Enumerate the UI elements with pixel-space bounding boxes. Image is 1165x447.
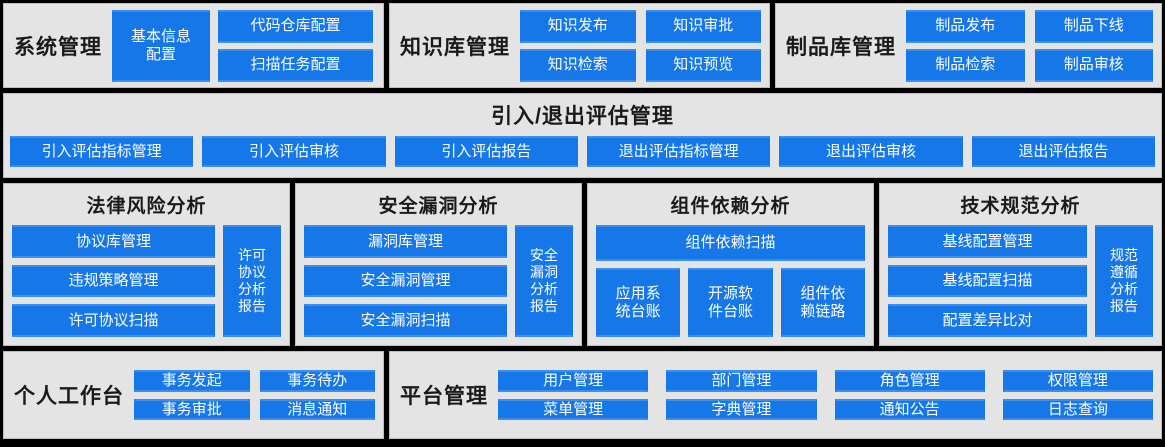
button-group-technical-specification-analysis: 基线配置管理 基线配置扫描 配置差异比对 xyxy=(888,225,1087,337)
button-product-audit[interactable]: 制品审核 xyxy=(1035,49,1154,82)
button-license-agreement-scan[interactable]: 许可协议扫描 xyxy=(12,304,215,337)
button-security-vulnerability-management[interactable]: 安全漏洞管理 xyxy=(304,265,507,298)
module-row-3: 法律风险分析 协议库管理 违规策略管理 许可协议扫描 许可协议分析报告 安全漏洞… xyxy=(3,183,1162,346)
panel-intro-exit-evaluation-management: 引入/退出评估管理 引入评估指标管理 引入评估审核 引入评估报告 退出评估指标管… xyxy=(3,93,1162,178)
report-label-line: 分析 xyxy=(530,281,558,298)
panel-security-vulnerability-analysis: 安全漏洞分析 漏洞库管理 安全漏洞管理 安全漏洞扫描 安全漏洞分析报告 xyxy=(295,183,582,346)
button-security-vulnerability-scan[interactable]: 安全漏洞扫描 xyxy=(304,304,507,337)
button-vulnerability-repo-management[interactable]: 漏洞库管理 xyxy=(304,225,507,258)
panel-platform-management: 平台管理 用户管理 部门管理 角色管理 权限管理 菜单管理 字典管理 通知公告 … xyxy=(389,351,1162,439)
button-product-publish[interactable]: 制品发布 xyxy=(906,10,1025,43)
report-label-line: 分析 xyxy=(238,281,266,298)
report-label-line: 分析 xyxy=(1110,281,1138,298)
button-notice-announcement[interactable]: 通知公告 xyxy=(835,399,985,420)
panel-title-component-dependency-analysis: 组件依赖分析 xyxy=(596,191,865,218)
button-menu-management[interactable]: 菜单管理 xyxy=(498,399,648,420)
button-intro-eval-review[interactable]: 引入评估审核 xyxy=(202,136,385,167)
panel-personal-workbench: 个人工作台 事务发起 事务待办 事务审批 消息通知 xyxy=(3,351,384,439)
button-product-search[interactable]: 制品检索 xyxy=(906,49,1025,82)
panel-title-knowledge-base-management: 知识库管理 xyxy=(390,31,520,61)
button-open-source-software-ledger[interactable]: 开源软 件台账 xyxy=(688,268,772,337)
button-knowledge-approval[interactable]: 知识审批 xyxy=(646,10,762,43)
panel-legal-risk-analysis: 法律风险分析 协议库管理 违规策略管理 许可协议扫描 许可协议分析报告 xyxy=(3,183,290,346)
button-message-notification[interactable]: 消息通知 xyxy=(260,399,376,420)
panel-system-management: 系统管理 基本信息 配置 代码仓库配置 扫描任务配置 xyxy=(3,3,384,88)
panel-title-legal-risk-analysis: 法律风险分析 xyxy=(12,191,281,218)
panel-title-security-vulnerability-analysis: 安全漏洞分析 xyxy=(304,191,573,218)
report-label-line: 报告 xyxy=(530,298,558,315)
button-group-intro-exit-evaluation: 引入评估指标管理 引入评估审核 引入评估报告 退出评估指标管理 退出评估审核 退… xyxy=(10,136,1155,167)
button-group-product-repository: 制品发布 制品下线 制品检索 制品审核 xyxy=(906,4,1161,88)
button-license-repo-management[interactable]: 协议库管理 xyxy=(12,225,215,258)
button-scan-task-config[interactable]: 扫描任务配置 xyxy=(218,49,373,82)
button-task-todo[interactable]: 事务待办 xyxy=(260,370,376,391)
button-group-platform-management: 用户管理 部门管理 角色管理 权限管理 菜单管理 字典管理 通知公告 日志查询 xyxy=(498,363,1161,427)
report-label-line: 许可 xyxy=(238,247,266,264)
button-baseline-config-scan[interactable]: 基线配置扫描 xyxy=(888,265,1087,298)
panel-component-dependency-analysis: 组件依赖分析 组件依赖扫描 应用系 统台账 开源软 件台账 组件依 赖链路 xyxy=(587,183,874,346)
button-task-approval[interactable]: 事务审批 xyxy=(134,399,250,420)
panel-title-personal-workbench: 个人工作台 xyxy=(4,380,134,410)
body-legal-risk-analysis: 协议库管理 违规策略管理 许可协议扫描 许可协议分析报告 xyxy=(12,225,281,337)
report-label-line: 协议 xyxy=(238,264,266,281)
button-log-query[interactable]: 日志查询 xyxy=(1003,399,1153,420)
button-knowledge-publish[interactable]: 知识发布 xyxy=(520,10,636,43)
button-config-difference-comparison[interactable]: 配置差异比对 xyxy=(888,304,1087,337)
report-label-line: 遵循 xyxy=(1110,264,1138,281)
button-group-dependency-ledgers: 应用系 统台账 开源软 件台账 组件依 赖链路 xyxy=(596,268,865,337)
panel-title-product-repository-management: 制品库管理 xyxy=(776,31,906,61)
button-user-management[interactable]: 用户管理 xyxy=(498,370,648,391)
module-row-4: 个人工作台 事务发起 事务待办 事务审批 消息通知 平台管理 用户管理 部门管理… xyxy=(3,351,1162,439)
module-row-1: 系统管理 基本信息 配置 代码仓库配置 扫描任务配置 知识库管理 知识发布 知识… xyxy=(3,3,1162,88)
button-knowledge-search[interactable]: 知识检索 xyxy=(520,49,636,82)
button-knowledge-preview[interactable]: 知识预览 xyxy=(646,49,762,82)
button-component-dependency-chain[interactable]: 组件依 赖链路 xyxy=(781,268,865,337)
panel-title-system-management: 系统管理 xyxy=(4,31,112,61)
panel-technical-specification-analysis: 技术规范分析 基线配置管理 基线配置扫描 配置差异比对 规范遵循分析报告 xyxy=(879,183,1162,346)
button-baseline-config-management[interactable]: 基线配置管理 xyxy=(888,225,1087,258)
report-label-line: 漏洞 xyxy=(530,264,558,281)
button-application-system-ledger[interactable]: 应用系 统台账 xyxy=(596,268,680,337)
button-group-personal-workbench: 事务发起 事务待办 事务审批 消息通知 xyxy=(134,364,383,426)
button-exit-eval-report[interactable]: 退出评估报告 xyxy=(972,136,1155,167)
button-group-dependency-scan: 组件依赖扫描 xyxy=(596,225,865,261)
button-basic-info-config[interactable]: 基本信息 配置 xyxy=(112,10,210,82)
button-exit-eval-review[interactable]: 退出评估审核 xyxy=(779,136,962,167)
panel-title-platform-management: 平台管理 xyxy=(390,380,498,410)
button-intro-eval-report[interactable]: 引入评估报告 xyxy=(395,136,578,167)
body-technical-specification-analysis: 基线配置管理 基线配置扫描 配置差异比对 规范遵循分析报告 xyxy=(888,225,1153,337)
body-security-vulnerability-analysis: 漏洞库管理 安全漏洞管理 安全漏洞扫描 安全漏洞分析报告 xyxy=(304,225,573,337)
report-label-line: 报告 xyxy=(1110,298,1138,315)
button-permission-management[interactable]: 权限管理 xyxy=(1003,370,1153,391)
button-exit-eval-indicator-management[interactable]: 退出评估指标管理 xyxy=(587,136,770,167)
button-code-repo-config[interactable]: 代码仓库配置 xyxy=(218,10,373,43)
button-specification-compliance-analysis-report[interactable]: 规范遵循分析报告 xyxy=(1095,225,1153,337)
button-group-legal-risk-analysis: 协议库管理 违规策略管理 许可协议扫描 xyxy=(12,225,215,337)
button-security-vulnerability-analysis-report[interactable]: 安全漏洞分析报告 xyxy=(515,225,573,337)
panel-product-repository-management: 制品库管理 制品发布 制品下线 制品检索 制品审核 xyxy=(775,3,1162,88)
button-department-management[interactable]: 部门管理 xyxy=(666,370,816,391)
report-label-line: 规范 xyxy=(1110,247,1138,264)
architecture-diagram: 系统管理 基本信息 配置 代码仓库配置 扫描任务配置 知识库管理 知识发布 知识… xyxy=(0,0,1165,447)
button-violation-policy-management[interactable]: 违规策略管理 xyxy=(12,265,215,298)
panel-knowledge-base-management: 知识库管理 知识发布 知识审批 知识检索 知识预览 xyxy=(389,3,770,88)
button-task-initiate[interactable]: 事务发起 xyxy=(134,370,250,391)
report-label-line: 安全 xyxy=(530,247,558,264)
button-group-security-vulnerability-analysis: 漏洞库管理 安全漏洞管理 安全漏洞扫描 xyxy=(304,225,507,337)
button-component-dependency-scan[interactable]: 组件依赖扫描 xyxy=(596,225,865,261)
button-group-system-management: 基本信息 配置 代码仓库配置 扫描任务配置 xyxy=(112,4,383,88)
panel-title-intro-exit-evaluation: 引入/退出评估管理 xyxy=(10,100,1155,130)
button-intro-eval-indicator-management[interactable]: 引入评估指标管理 xyxy=(10,136,193,167)
button-role-management[interactable]: 角色管理 xyxy=(835,370,985,391)
body-component-dependency-analysis: 组件依赖扫描 应用系 统台账 开源软 件台账 组件依 赖链路 xyxy=(596,225,865,337)
report-label-line: 报告 xyxy=(238,298,266,315)
panel-title-technical-specification-analysis: 技术规范分析 xyxy=(888,191,1153,218)
button-dictionary-management[interactable]: 字典管理 xyxy=(666,399,816,420)
button-license-analysis-report[interactable]: 许可协议分析报告 xyxy=(223,225,281,337)
module-row-2: 引入/退出评估管理 引入评估指标管理 引入评估审核 引入评估报告 退出评估指标管… xyxy=(3,93,1162,178)
button-product-offline[interactable]: 制品下线 xyxy=(1035,10,1154,43)
button-group-knowledge-base: 知识发布 知识审批 知识检索 知识预览 xyxy=(520,4,769,88)
